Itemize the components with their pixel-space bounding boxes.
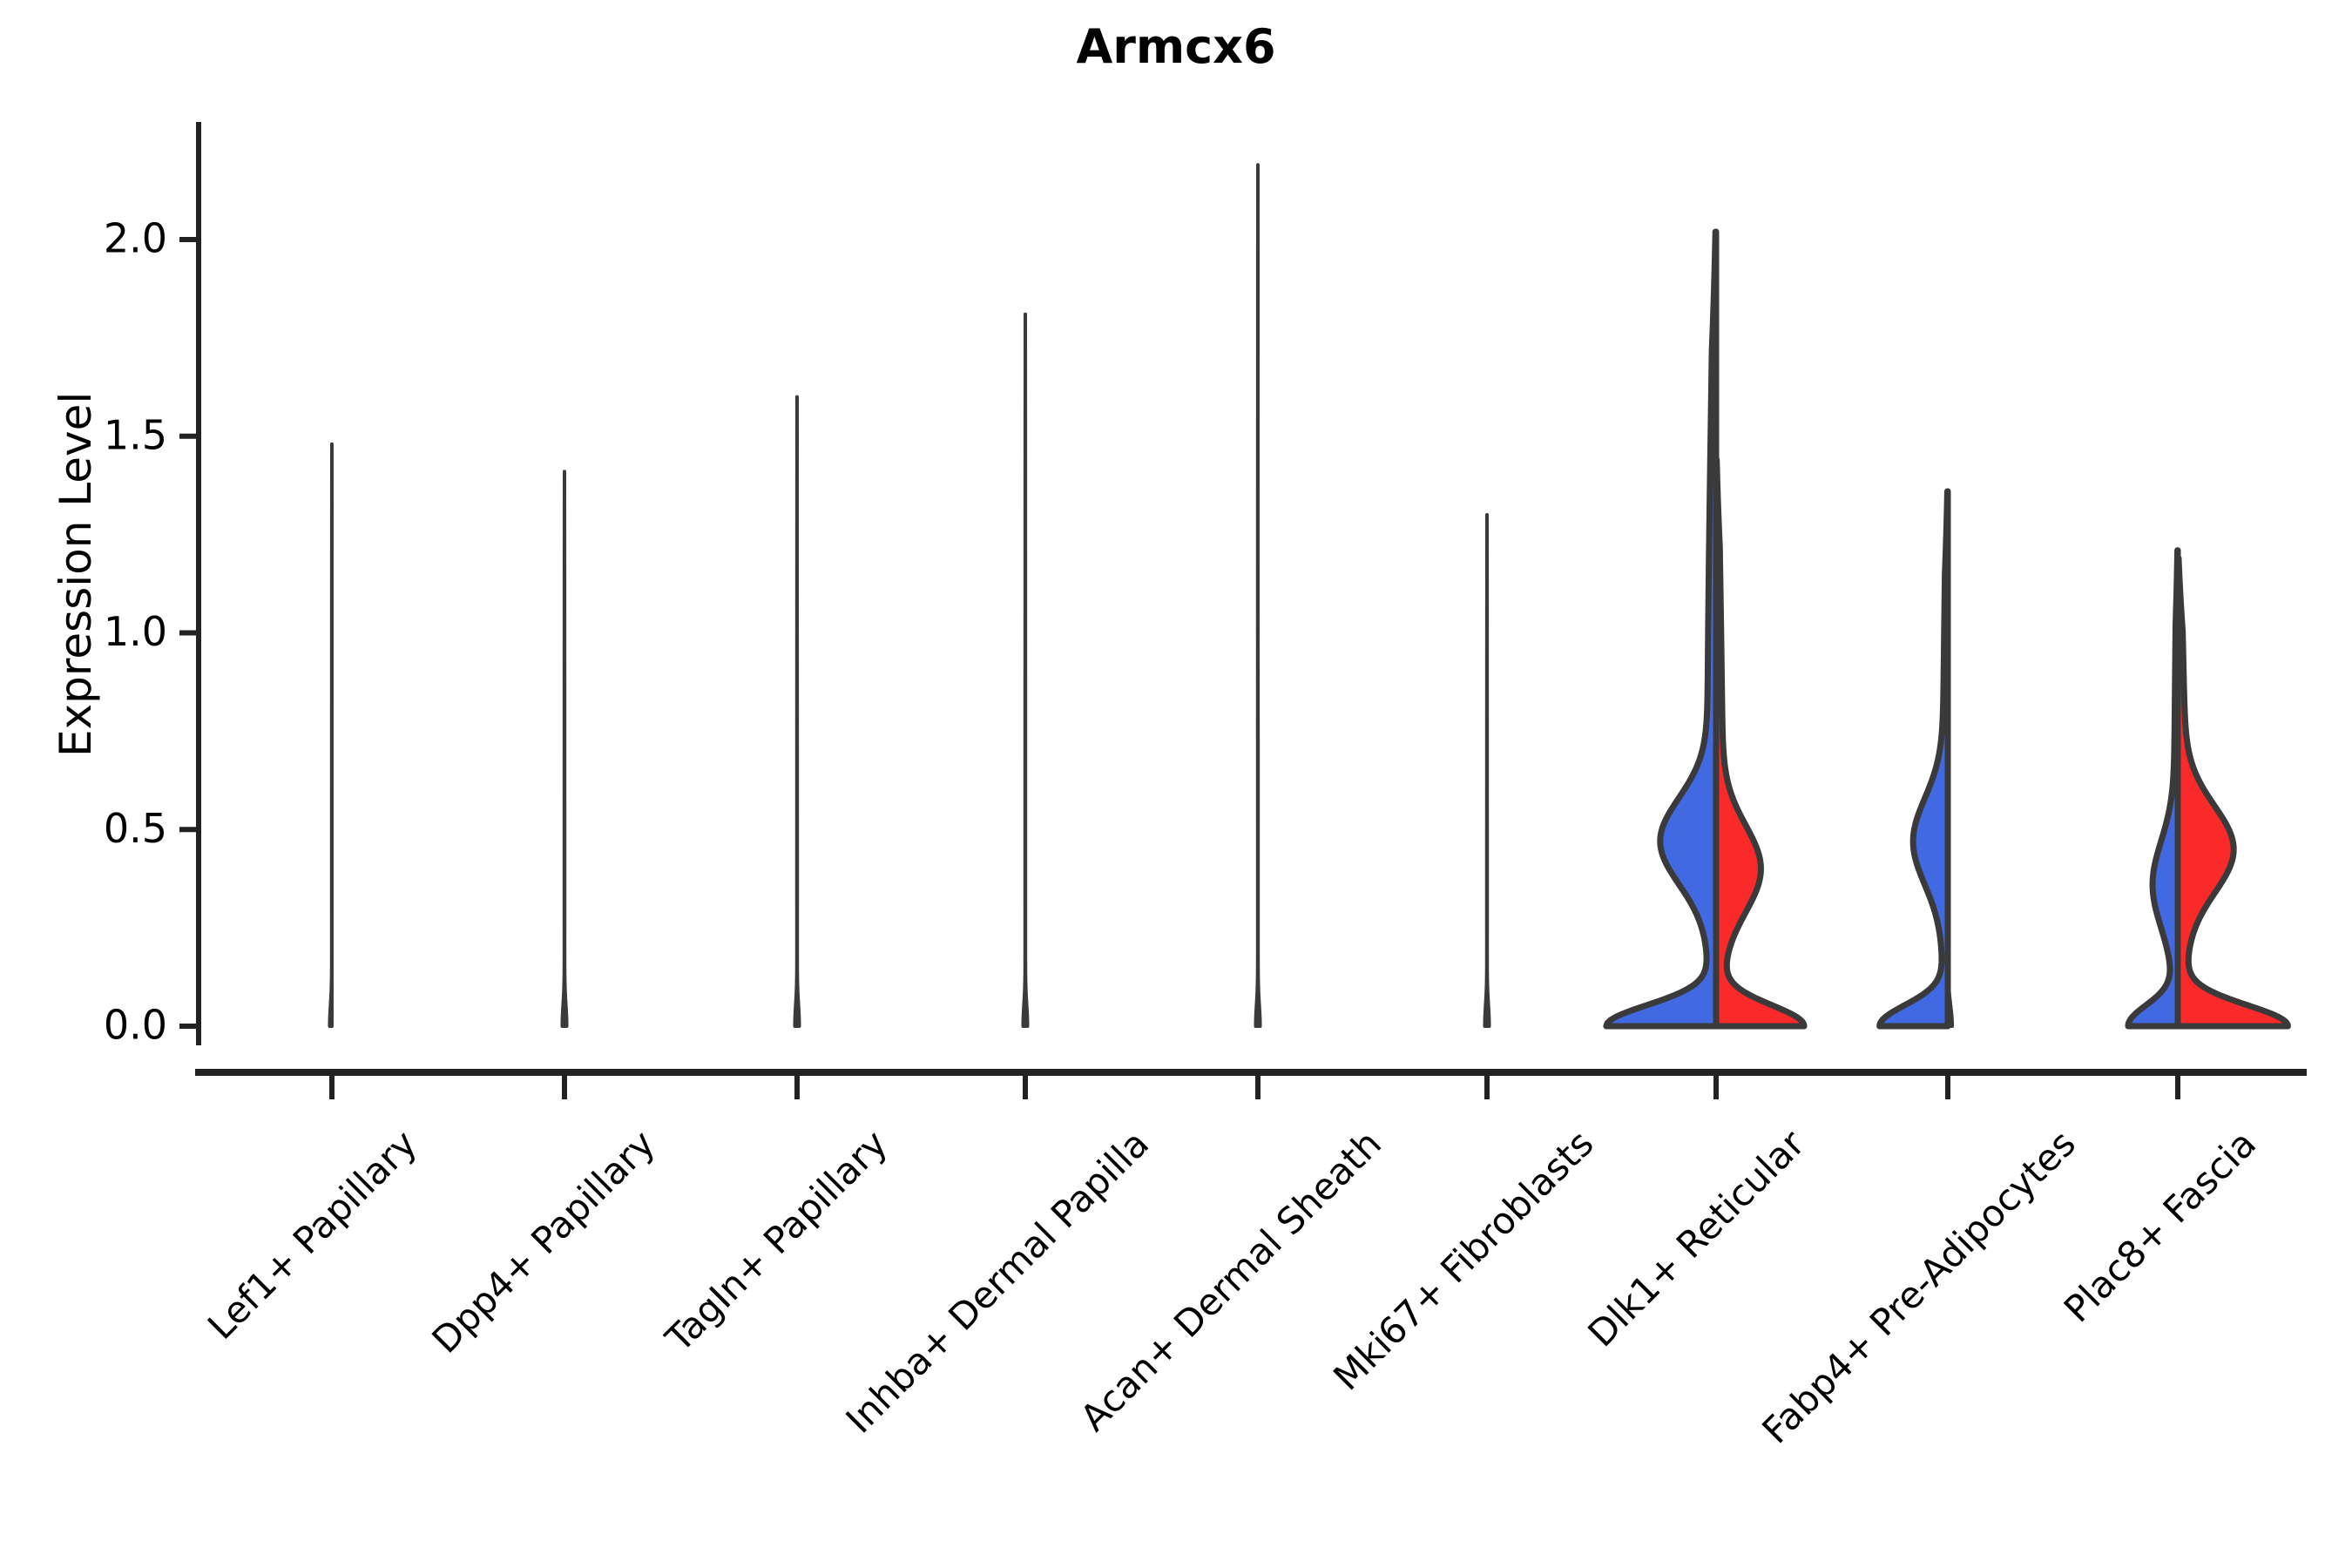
violin-half bbox=[1258, 629, 1260, 1026]
violin-plot-figure: Armcx6 Expression Level 0.00.51.01.52.0 … bbox=[0, 0, 2352, 1568]
violin-series-group bbox=[329, 165, 2288, 1026]
violin-half bbox=[2128, 551, 2178, 1026]
axes-group bbox=[179, 122, 2307, 1099]
y-tick-label: 0.5 bbox=[104, 805, 167, 852]
violin-half bbox=[1606, 232, 1716, 1026]
y-tick-label: 1.5 bbox=[104, 411, 167, 458]
violin-half bbox=[1716, 460, 1804, 1026]
y-tick-label: 1.0 bbox=[104, 608, 167, 655]
violin-half bbox=[329, 444, 332, 1026]
violin-half bbox=[564, 499, 567, 1026]
violin-half bbox=[797, 605, 800, 1026]
y-tick-label: 0.0 bbox=[104, 1002, 167, 1049]
violin-half bbox=[1487, 515, 1490, 1026]
y-tick-label-group: 0.00.51.01.52.0 bbox=[104, 215, 167, 1049]
violin-half bbox=[1025, 314, 1028, 1026]
y-tick-label: 2.0 bbox=[104, 215, 167, 262]
violin-half bbox=[1880, 491, 1948, 1026]
violin-half bbox=[2178, 558, 2288, 1026]
